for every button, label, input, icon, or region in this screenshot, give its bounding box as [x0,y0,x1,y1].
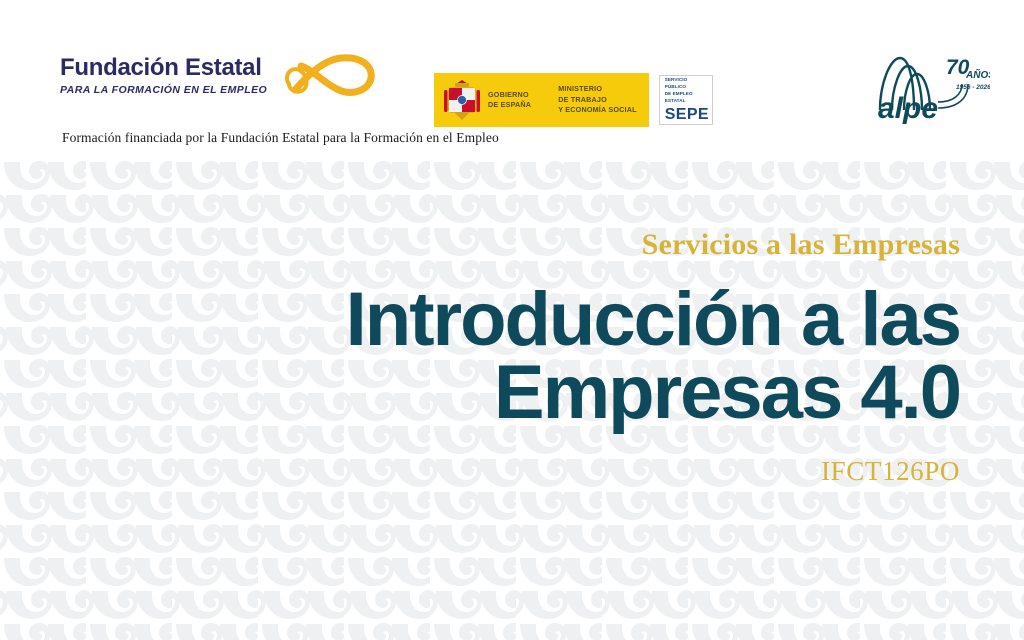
sepe-logo: SERVICIO PÚBLICO DE EMPLEO ESTATAL SEPE [659,75,713,125]
ministerio-line-1: MINISTERIO [558,84,636,94]
sepe-line-2: DE EMPLEO ESTATAL [665,91,707,105]
gobierno-yellow-panel: GOBIERNO DE ESPAÑA MINISTERIO DE TRABAJO… [434,73,649,127]
fundacion-estatal-logo: Fundación Estatal PARA LA FORMACIÓN EN E… [60,50,377,102]
sepe-acronym: SEPE [665,107,709,123]
sepe-line-1: SERVICIO PÚBLICO [665,77,707,91]
gobierno-line-1: GOBIERNO [488,90,531,100]
gobierno-de-espana-logo: GOBIERNO DE ESPAÑA MINISTERIO DE TRABAJO… [434,73,713,127]
slide-header: Fundación Estatal PARA LA FORMACIÓN EN E… [0,0,1024,158]
alpe-anniversary-years: 1956 - 2026 [956,84,990,91]
slide-body: Servicios a las Empresas Introducción a … [0,158,1024,640]
title-content: Servicios a las Empresas Introducción a … [0,158,1024,640]
alpe-wordmark: alpe [878,92,938,125]
alpe-anniversary-label: AÑOS [965,68,990,81]
spanish-coat-of-arms-icon [442,77,482,123]
fundacion-estatal-title: Fundación Estatal [60,56,267,80]
funding-notice: Formación financiada por la Fundación Es… [62,130,499,146]
title-slide: Fundación Estatal PARA LA FORMACIÓN EN E… [0,0,1024,640]
fundacion-estatal-subtitle: PARA LA FORMACIÓN EN EL EMPLEO [60,85,267,96]
gobierno-line-2: DE ESPAÑA [488,100,531,110]
gobierno-name: GOBIERNO DE ESPAÑA [488,90,545,111]
page-title: Introducción a las Empresas 4.0 [170,284,960,430]
logo-row: Fundación Estatal PARA LA FORMACIÓN EN E… [0,30,1024,112]
fundacion-estatal-wordmark: Fundación Estatal PARA LA FORMACIÓN EN E… [60,56,267,96]
infinity-swoosh-icon [281,50,377,102]
ministerio-name: MINISTERIO DE TRABAJO Y ECONOMÍA SOCIAL [546,84,648,115]
course-category: Servicios a las Empresas [642,228,960,262]
ministerio-line-3: Y ECONOMÍA SOCIAL [558,105,636,115]
alpe-logo: alpe 70 AÑOS 1956 - 2026 [862,44,990,126]
ministerio-line-2: DE TRABAJO [558,95,636,105]
course-code: IFCT126PO [821,456,960,487]
